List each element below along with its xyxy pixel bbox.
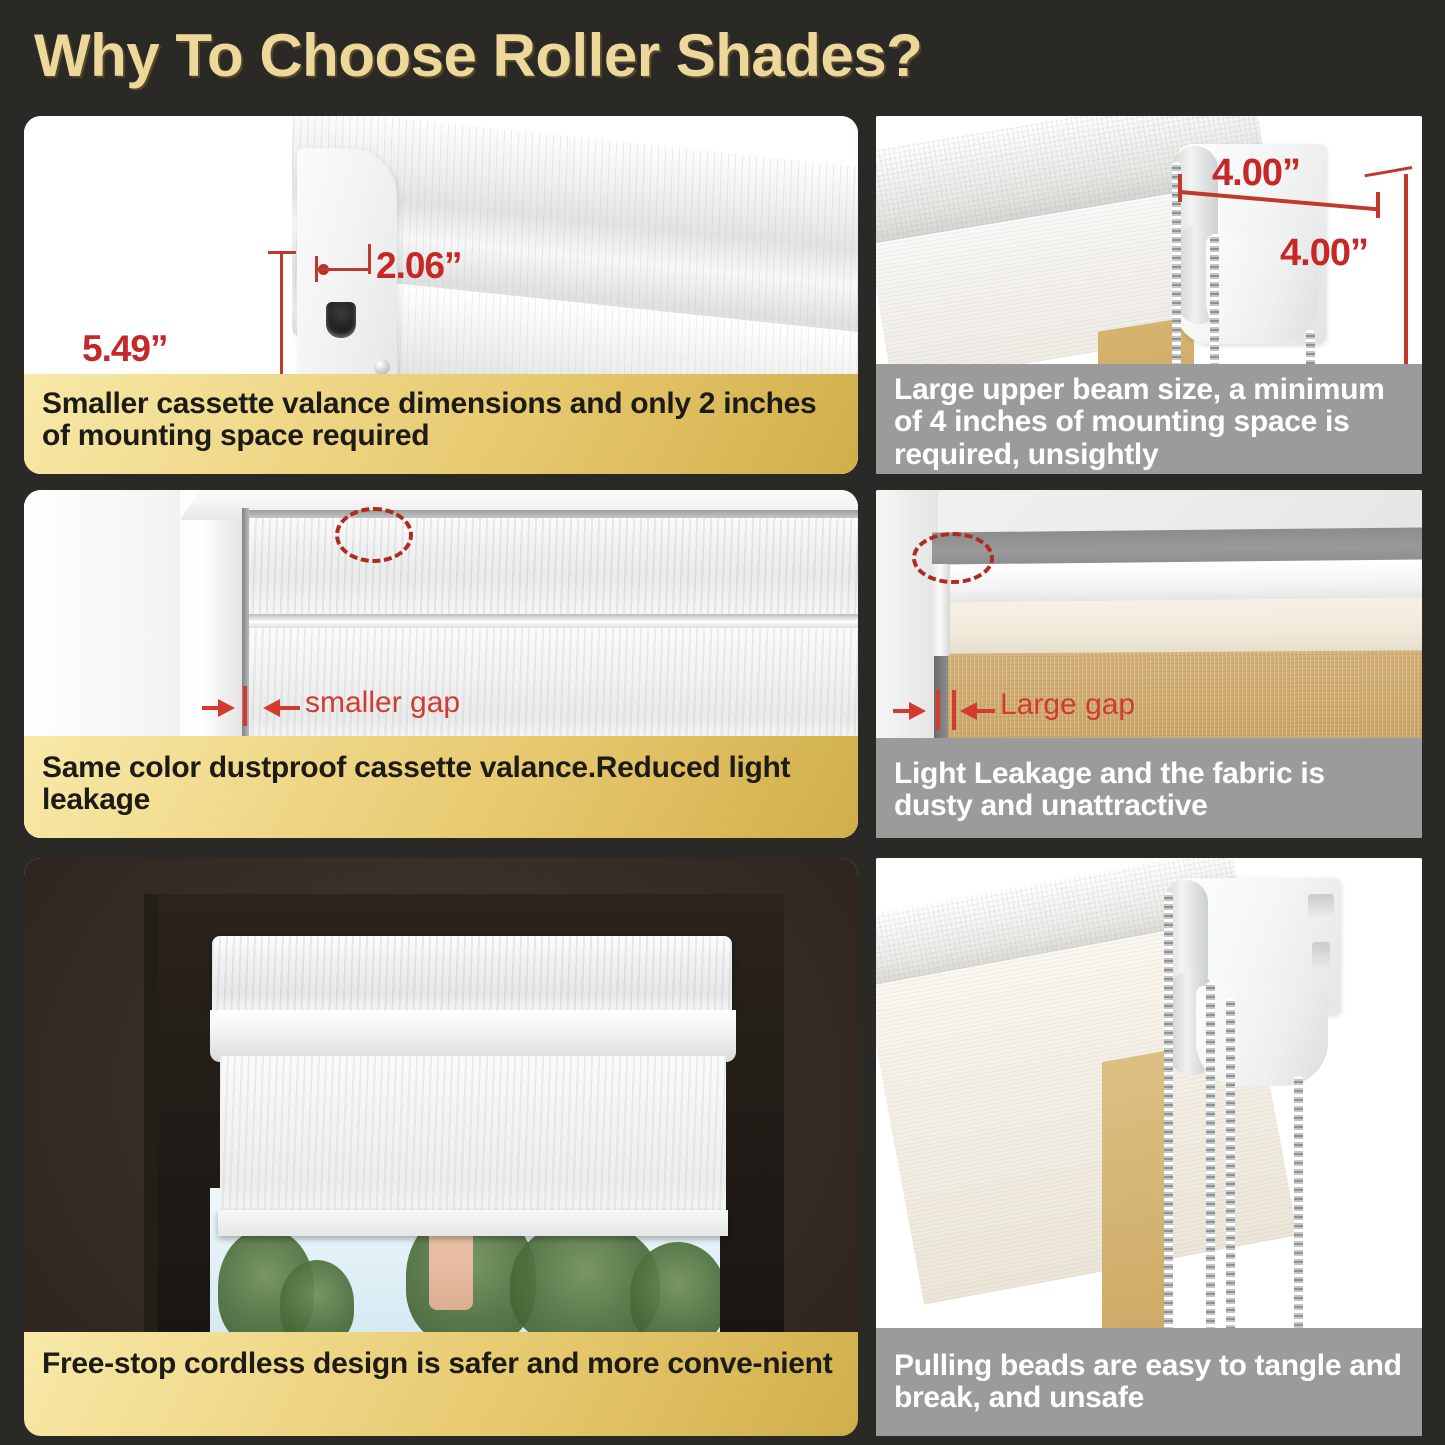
height-dim-tick-top (268, 251, 296, 254)
width-dim-tick-right (1376, 192, 1380, 218)
gap-arrow-right (960, 702, 977, 720)
detail-highlight-circle (335, 507, 413, 563)
bead-chain (1164, 892, 1173, 1370)
panel-smaller-cassette: 2.06” 5.49” Smaller cassette valance dim… (24, 116, 858, 474)
bead-chain (1226, 998, 1235, 1370)
gap-arrow-right-tail (280, 706, 300, 710)
gap-arrow-left-tail (893, 709, 913, 713)
gap-callout-label: smaller gap (305, 686, 460, 720)
panel-cordless-design: Free-stop cordless design is safer and m… (24, 858, 858, 1436)
gap-arrow-right (263, 699, 280, 717)
page-header: Why To Choose Roller Shades? (0, 0, 1445, 110)
detail-highlight-circle (912, 532, 994, 584)
gap-marker-bar (936, 690, 940, 730)
bead-chain (1294, 1076, 1303, 1370)
page-title: Why To Choose Roller Shades? (34, 21, 922, 90)
panel-light-leakage: Large gap Light Leakage and the fabric i… (876, 490, 1422, 838)
gap-arrow-left-tail (202, 706, 222, 710)
gap-callout-label: Large gap (1000, 688, 1135, 722)
gap-marker-bar (952, 690, 956, 730)
gap-arrow-right-tail (977, 709, 995, 713)
panel-dustproof-valance: smaller gap Same color dustproof cassett… (24, 490, 858, 838)
panel-large-upper-beam: 4.00” 4.00” Large upper beam size, a min… (876, 116, 1422, 474)
panel-1-caption: Smaller cassette valance dimensions and … (24, 374, 858, 474)
panel-4-caption: Light Leakage and the fabric is dusty an… (876, 738, 1422, 838)
width-dimension-label: 2.06” (376, 245, 462, 287)
width-dim-tick-right (368, 244, 371, 274)
width-dim-tick-left (315, 256, 318, 282)
width-dim-tick-left (1178, 174, 1182, 202)
width-dim-line (317, 268, 371, 271)
panel-pulling-beads: Pulling beads are easy to tangle and bre… (876, 858, 1422, 1436)
gap-marker-bar (243, 686, 247, 726)
width-dimension-label: 4.00” (1212, 152, 1300, 195)
panel-2-caption: Large upper beam size, a minimum of 4 in… (876, 364, 1422, 474)
panel-3-caption: Same color dustproof cassette valance.Re… (24, 736, 858, 838)
bead-chain (1206, 982, 1215, 1370)
height-dimension-label: 4.00” (1280, 232, 1368, 275)
height-dimension-label: 5.49” (82, 328, 168, 370)
panel-6-caption: Pulling beads are easy to tangle and bre… (876, 1328, 1422, 1436)
panel-5-caption: Free-stop cordless design is safer and m… (24, 1332, 858, 1436)
